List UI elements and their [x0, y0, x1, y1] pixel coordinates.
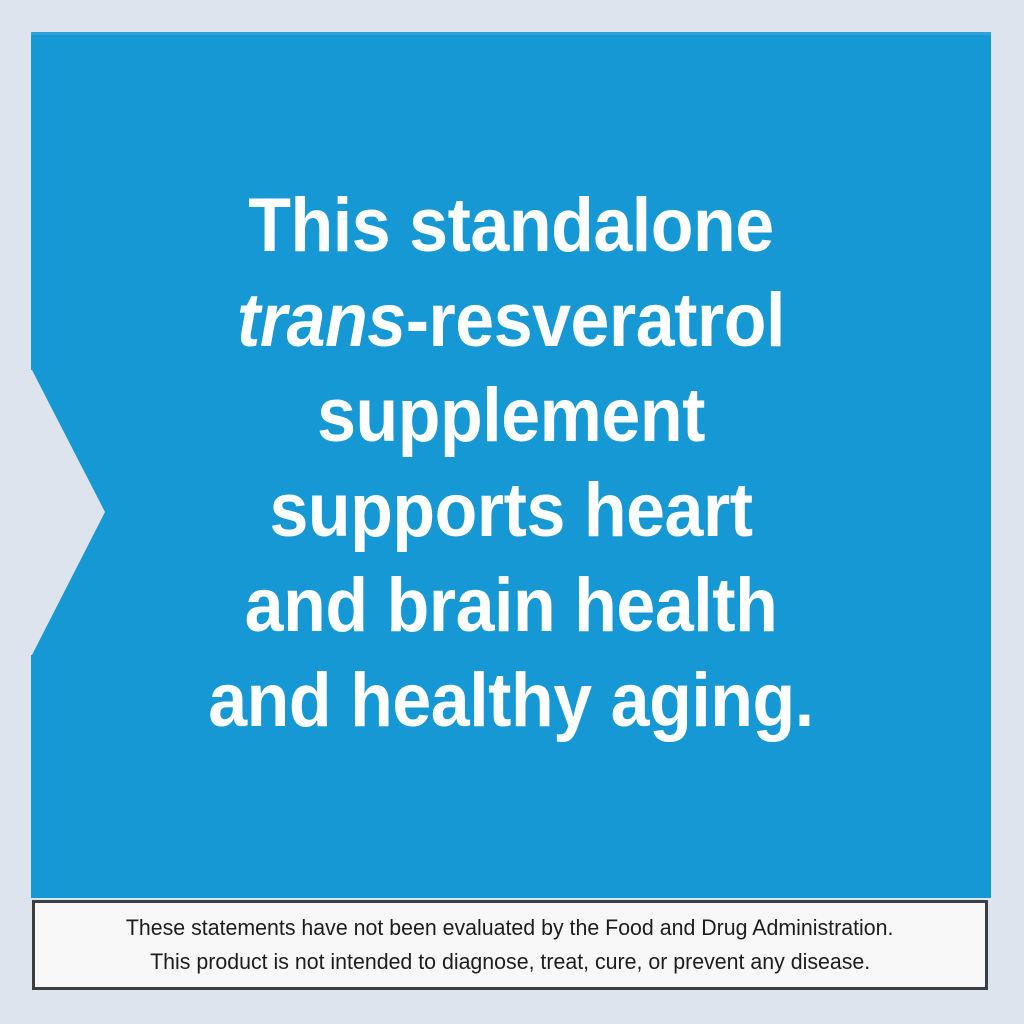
headline: This standalone trans-resveratrol supple… — [31, 178, 991, 748]
disclaimer-line-2: This product is not intended to diagnose… — [150, 945, 870, 979]
headline-line-2: trans-resveratrol — [69, 273, 952, 368]
disclaimer-line-1: These statements have not been evaluated… — [126, 911, 894, 945]
headline-line-4: supports heart — [69, 463, 952, 558]
headline-line-3: supplement — [69, 368, 952, 463]
promo-graphic-canvas: This standalone trans-resveratrol supple… — [0, 0, 1024, 1024]
headline-italic-trans: trans — [237, 278, 406, 363]
headline-line-1: This standalone — [69, 178, 952, 273]
headline-line-2-suffix: -resveratrol — [406, 278, 785, 363]
headline-line-6: and healthy aging. — [69, 653, 952, 748]
headline-line-5: and brain health — [69, 558, 952, 653]
fda-disclaimer-box: These statements have not been evaluated… — [32, 900, 988, 990]
